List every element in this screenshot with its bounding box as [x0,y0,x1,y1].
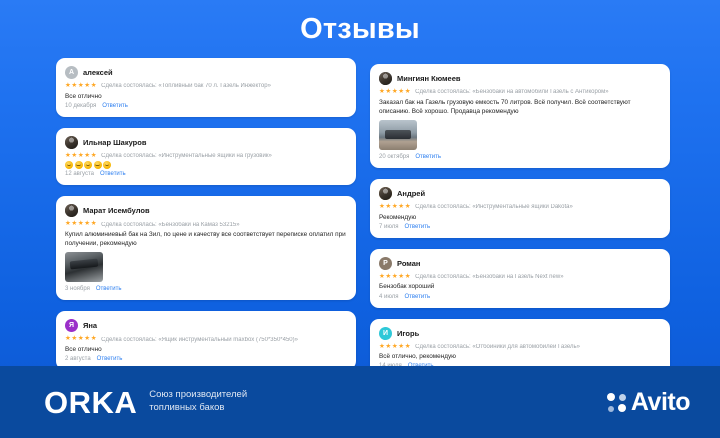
review-date: 3 ноября [65,286,90,292]
reply-link[interactable]: Ответить [102,103,128,109]
star-rating: ★★★★★ [379,274,411,281]
review-card: Марат Исембулов★★★★★Сделка состоялась: «… [56,196,356,300]
smile-emoji-icon[interactable] [75,161,83,169]
smile-emoji-icon[interactable] [84,161,92,169]
review-body: Бензобак хороший [379,282,660,291]
reviews-board: Аалексей★★★★★Сделка состоялась: «Топливн… [0,58,720,366]
smile-emoji-icon[interactable] [94,161,102,169]
smile-emoji-icon[interactable] [103,161,111,169]
reply-link[interactable]: Ответить [415,154,441,160]
star-rating: ★★★★★ [379,344,411,351]
review-author-row: Аалексей [65,66,346,79]
avatar[interactable]: Р [379,257,392,270]
deal-subject: Сделка состоялась: «Бензобаки на автомоб… [415,89,608,95]
avatar[interactable]: Я [65,319,78,332]
deal-subject: Сделка состоялась: «Топливный бак 70 л. … [101,83,271,89]
deal-subject: Сделка состоялась: «Инструментальные ящи… [415,204,573,210]
author-name: алексей [83,68,113,77]
review-date: 4 июля [379,294,398,300]
author-name: Игорь [397,329,419,338]
review-body: Рекомендую [379,213,660,222]
avito-dots-icon [607,393,626,412]
avatar[interactable] [65,204,78,217]
review-body: Все отлично [65,345,346,354]
review-body: Всё отлично, рекомендую [379,352,660,361]
reply-link[interactable]: Ответить [404,224,430,230]
reply-link[interactable]: Ответить [97,356,123,362]
review-date: 12 августа [65,171,94,177]
review-footer-row: 10 декабряОтветить [65,103,346,109]
review-author-row: ЯЯна [65,319,346,332]
reaction-row[interactable] [65,161,346,169]
author-name: Роман [397,259,420,268]
review-date: 20 октября [379,154,409,160]
page-title: Отзывы [300,13,420,46]
review-author-row: РРоман [379,257,660,270]
review-meta-row: ★★★★★Сделка состоялась: «Инструментальны… [379,204,660,211]
smile-emoji-icon[interactable] [65,161,73,169]
brand-block: ORKA Союз производителей топливных баков [44,387,247,418]
review-card: РРоман★★★★★Сделка состоялась: «Бензобаки… [370,249,670,308]
review-body: Заказал бак на Газель грузовую емкость 7… [379,98,660,117]
review-footer-row: 3 ноябряОтветить [65,286,346,292]
review-card: Андрей★★★★★Сделка состоялась: «Инструмен… [370,179,670,238]
deal-subject: Сделка состоялась: «Инструментальные ящи… [101,153,272,159]
avatar[interactable] [379,187,392,200]
avatar[interactable]: И [379,327,392,340]
review-meta-row: ★★★★★Сделка состоялась: «Ящик инструмент… [65,336,346,343]
author-name: Мингиян Кюмеев [397,74,461,83]
star-rating: ★★★★★ [65,153,97,160]
avito-wordmark: Avito [631,390,690,415]
star-rating: ★★★★★ [65,83,97,90]
review-photo-thumbnail[interactable] [65,252,103,282]
review-card: ЯЯна★★★★★Сделка состоялась: «Ящик инстру… [56,311,356,370]
reviews-column-right: Мингиян Кюмеев★★★★★Сделка состоялась: «Б… [370,64,670,366]
author-name: Ильнар Шакуров [83,138,146,147]
review-author-row: ИИгорь [379,327,660,340]
avatar[interactable] [379,72,392,85]
page-header: Отзывы [0,0,720,58]
review-meta-row: ★★★★★Сделка состоялась: «Инструментальны… [65,153,346,160]
review-meta-row: ★★★★★Сделка состоялась: «Бензобаки на Ка… [65,221,346,228]
page-footer: ORKA Союз производителей топливных баков… [0,366,720,438]
star-rating: ★★★★★ [379,89,411,96]
reply-link[interactable]: Ответить [404,294,430,300]
review-body: Купил алюминиевый бак на Зил, по цене и … [65,230,346,249]
deal-subject: Сделка состоялась: «Ящик инструментальны… [101,337,298,343]
avito-logo: Avito [607,390,690,415]
review-photo-thumbnail[interactable] [379,120,417,150]
brand-tagline: Союз производителей топливных баков [149,389,247,415]
review-footer-row: 20 октябряОтветить [379,154,660,160]
review-footer-row: 2 августаОтветить [65,356,346,362]
deal-subject: Сделка состоялась: «Бензобаки на Газель … [415,274,563,280]
review-author-row: Андрей [379,187,660,200]
deal-subject: Сделка состоялась: «Отбойники для автомо… [415,344,580,350]
star-rating: ★★★★★ [65,336,97,343]
review-card: Ильнар Шакуров★★★★★Сделка состоялась: «И… [56,128,356,186]
review-meta-row: ★★★★★Сделка состоялась: «Бензобаки на ав… [379,89,660,96]
author-name: Марат Исембулов [83,206,150,215]
review-author-row: Ильнар Шакуров [65,136,346,149]
avatar[interactable] [65,136,78,149]
review-meta-row: ★★★★★Сделка состоялась: «Топливный бак 7… [65,83,346,90]
review-date: 10 декабря [65,103,96,109]
review-author-row: Мингиян Кюмеев [379,72,660,85]
review-footer-row: 12 августаОтветить [65,171,346,177]
review-meta-row: ★★★★★Сделка состоялась: «Отбойники для а… [379,344,660,351]
avatar[interactable]: А [65,66,78,79]
review-footer-row: 4 июляОтветить [379,294,660,300]
review-date: 2 августа [65,356,91,362]
review-author-row: Марат Исембулов [65,204,346,217]
review-card: Мингиян Кюмеев★★★★★Сделка состоялась: «Б… [370,64,670,168]
review-body: Все отлично [65,92,346,101]
reply-link[interactable]: Ответить [96,286,122,292]
review-card: Аалексей★★★★★Сделка состоялась: «Топливн… [56,58,356,117]
author-name: Яна [83,321,97,330]
review-date: 7 июля [379,224,398,230]
author-name: Андрей [397,189,425,198]
deal-subject: Сделка состоялась: «Бензобаки на Камаз 5… [101,222,239,228]
review-meta-row: ★★★★★Сделка состоялась: «Бензобаки на Га… [379,274,660,281]
orka-logo: ORKA [44,387,137,418]
review-footer-row: 7 июляОтветить [379,224,660,230]
star-rating: ★★★★★ [65,221,97,228]
reply-link[interactable]: Ответить [100,171,126,177]
reviews-column-left: Аалексей★★★★★Сделка состоялась: «Топливн… [56,58,356,366]
star-rating: ★★★★★ [379,204,411,211]
